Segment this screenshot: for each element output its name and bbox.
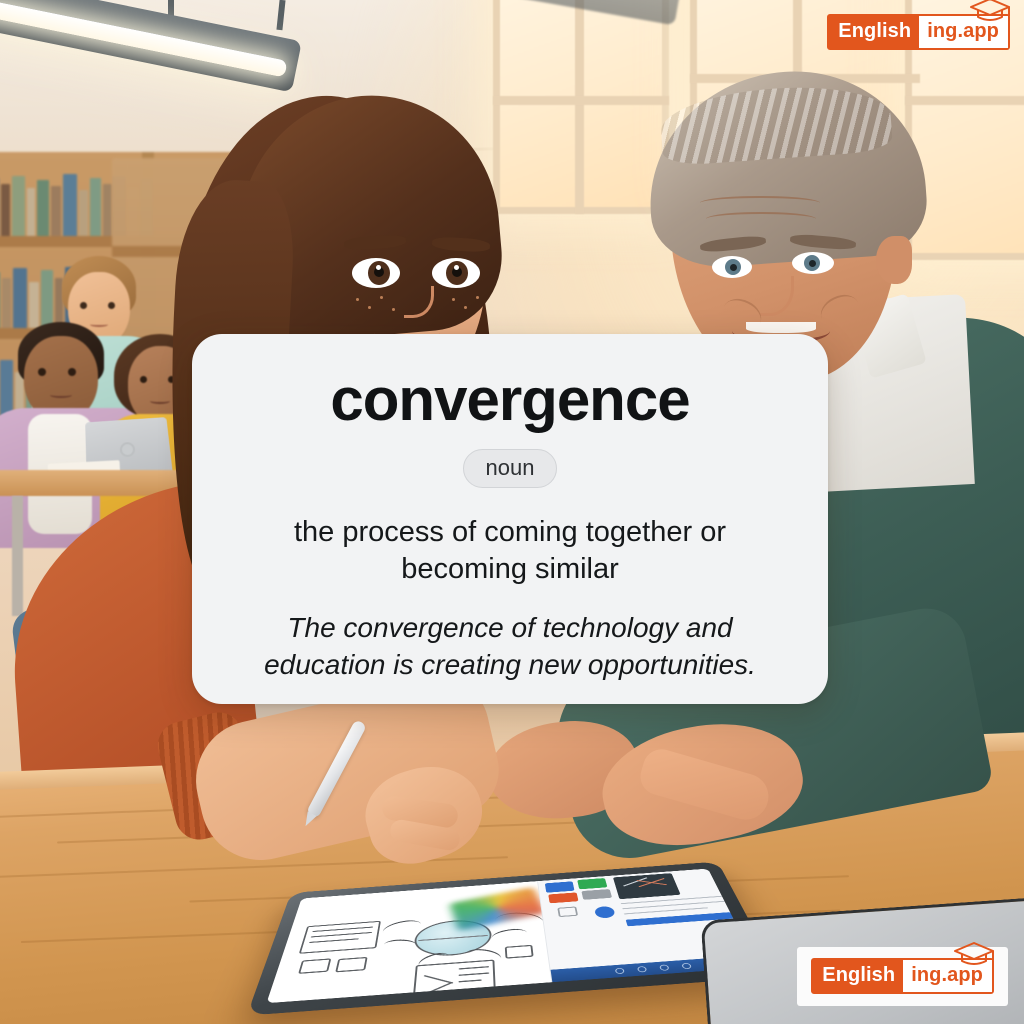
tablet-diagram-panel[interactable] <box>266 881 551 1003</box>
forehead-wrinkle <box>700 196 820 210</box>
example-sentence: The convergence of technology and educat… <box>232 610 788 683</box>
logo-text-ingapp: ing.app <box>919 16 1008 48</box>
logo-text-english: English <box>813 960 903 992</box>
student-eye <box>352 258 400 288</box>
definition-card: convergence noun the process of coming t… <box>192 334 828 704</box>
englishing-logo[interactable]: English ing.app <box>827 14 1010 50</box>
student-eye <box>432 258 480 288</box>
add-button-icon[interactable] <box>594 906 616 919</box>
flashcard-image: convergence noun the process of coming t… <box>0 0 1024 1024</box>
window-mullion <box>493 96 669 105</box>
logo-text-english: English <box>829 16 919 48</box>
definition-text: the process of coming together or becomi… <box>250 514 770 588</box>
window-mullion <box>905 96 1024 105</box>
teacher-ear <box>876 236 912 284</box>
englishing-logo[interactable]: English ing.app <box>811 958 994 994</box>
refresh-icon[interactable] <box>615 968 625 974</box>
window-mullion <box>575 0 584 214</box>
part-of-speech-badge: noun <box>463 449 558 488</box>
sync-icon[interactable] <box>659 964 670 970</box>
teacher-eye <box>712 256 752 278</box>
back-table-leg <box>12 496 23 616</box>
logo-text-ingapp: ing.app <box>903 960 992 992</box>
teacher-eye <box>792 252 834 274</box>
forehead-wrinkle <box>706 212 816 226</box>
settings-icon[interactable] <box>637 966 647 972</box>
watermark-logo-bottom[interactable]: English ing.app <box>797 947 1008 1006</box>
watermark-logo-top[interactable]: English ing.app <box>827 14 1010 50</box>
word-title: convergence <box>330 368 689 431</box>
history-icon[interactable] <box>681 963 692 969</box>
